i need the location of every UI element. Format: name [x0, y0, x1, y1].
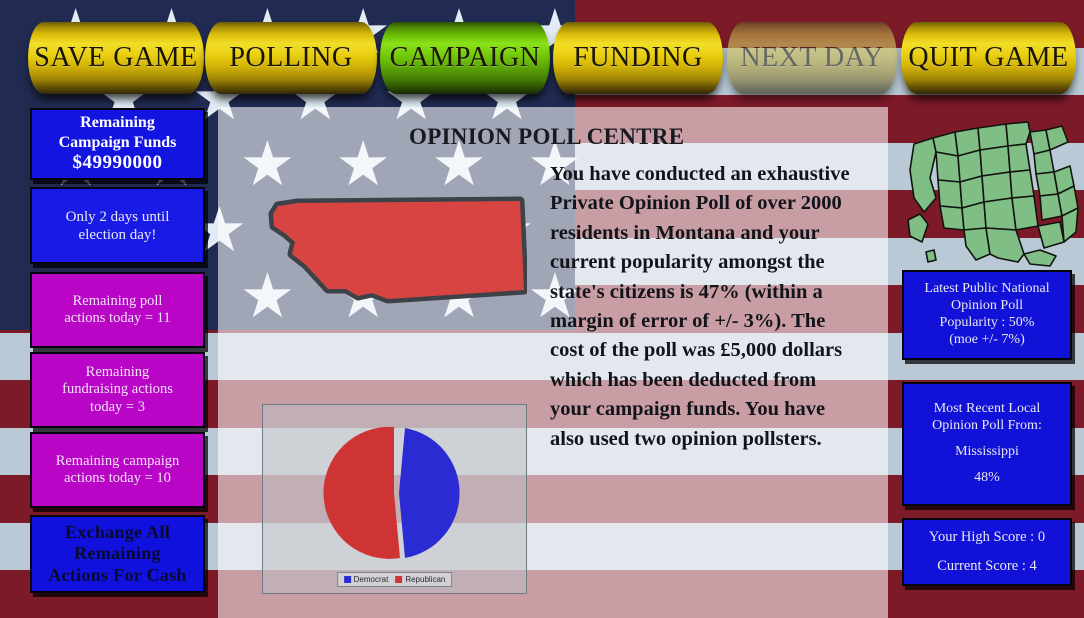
remaining-poll-actions-panel: Remaining poll actions today = 11: [30, 272, 205, 348]
save-game-label: SAVE GAME: [28, 22, 204, 94]
legend-swatch-republican: [395, 576, 402, 583]
save-game-button[interactable]: SAVE GAME: [28, 22, 204, 94]
polling-button[interactable]: POLLING: [205, 22, 377, 94]
legend-item-republican: Republican: [395, 575, 445, 584]
remaining-fundraising-actions-panel: Remaining fundraising actions today = 3: [30, 352, 205, 428]
page-title: OPINION POLL CENTRE: [409, 124, 684, 150]
national-line-1: Latest Public National: [924, 281, 1049, 298]
next-day-label: NEXT DAY: [727, 22, 897, 94]
local-line-2: Opinion Poll From:: [932, 418, 1042, 435]
campaign-actions-line-2: actions today = 10: [64, 470, 171, 487]
funds-line-1: Remaining: [80, 113, 155, 132]
national-line-2: Opinion Poll: [951, 298, 1023, 315]
legend-item-democrat: Democrat: [344, 575, 389, 584]
poll-result-text: You have conducted an exhaustive Private…: [550, 160, 850, 454]
local-percent: 48%: [974, 470, 1000, 487]
legend-swatch-democrat: [344, 576, 351, 583]
polling-label: POLLING: [205, 22, 377, 94]
campaign-label: CAMPAIGN: [380, 22, 550, 94]
fundraising-line-1: Remaining: [86, 364, 150, 381]
latest-national-poll-panel: Latest Public National Opinion Poll Popu…: [902, 270, 1072, 360]
legend-label-democrat: Democrat: [354, 575, 389, 584]
days-line-1: Only 2 days until: [66, 208, 170, 226]
montana-state-outline-icon: [262, 190, 527, 310]
local-line-1: Most Recent Local: [934, 401, 1041, 418]
quit-game-button[interactable]: QUIT GAME: [901, 22, 1076, 94]
fundraising-line-2: fundraising actions: [62, 381, 173, 398]
most-recent-local-poll-panel: Most Recent Local Opinion Poll From: Mis…: [902, 382, 1072, 506]
campaign-actions-line-1: Remaining campaign: [56, 453, 180, 470]
remaining-campaign-actions-panel: Remaining campaign actions today = 10: [30, 432, 205, 508]
fundraising-line-3: today = 3: [90, 399, 145, 416]
national-line-4: (moe +/- 7%): [949, 332, 1025, 349]
exchange-line-1: Exchange All: [65, 522, 170, 544]
poll-actions-line-2: actions today = 11: [64, 310, 170, 327]
current-score: Current Score : 4: [937, 558, 1036, 575]
pie-slice-republican: [323, 427, 400, 559]
remaining-campaign-funds-panel: Remaining Campaign Funds $49990000: [30, 108, 205, 180]
funds-line-2: Campaign Funds: [59, 133, 177, 152]
poll-actions-line-1: Remaining poll: [73, 293, 163, 310]
pie-chart-legend: Democrat Republican: [337, 572, 453, 587]
pie-slice-democrat: [399, 428, 460, 558]
legend-label-republican: Republican: [405, 575, 445, 584]
exchange-line-3: Actions For Cash: [48, 565, 186, 587]
days-line-2: election day!: [79, 226, 157, 244]
national-line-3: Popularity : 50%: [940, 315, 1035, 332]
funding-label: FUNDING: [553, 22, 723, 94]
days-until-election-panel: Only 2 days until election day!: [30, 187, 205, 264]
exchange-line-2: Remaining: [74, 543, 161, 565]
pie-chart-svg: [263, 405, 528, 595]
quit-game-label: QUIT GAME: [901, 22, 1076, 94]
high-score: Your High Score : 0: [929, 529, 1045, 546]
poll-pie-chart: Democrat Republican: [262, 404, 527, 594]
local-state: Mississippi: [955, 444, 1019, 461]
funds-amount: $49990000: [73, 152, 163, 175]
top-button-bar: SAVE GAME POLLING CAMPAIGN FUNDING NEXT …: [0, 0, 1084, 103]
united-states-map-icon: [900, 102, 1084, 270]
exchange-actions-for-cash-button[interactable]: Exchange All Remaining Actions For Cash: [30, 515, 205, 593]
score-panel: Your High Score : 0 Current Score : 4: [902, 518, 1072, 586]
campaign-button[interactable]: CAMPAIGN: [380, 22, 550, 94]
next-day-button[interactable]: NEXT DAY: [727, 22, 897, 94]
funding-button[interactable]: FUNDING: [553, 22, 723, 94]
